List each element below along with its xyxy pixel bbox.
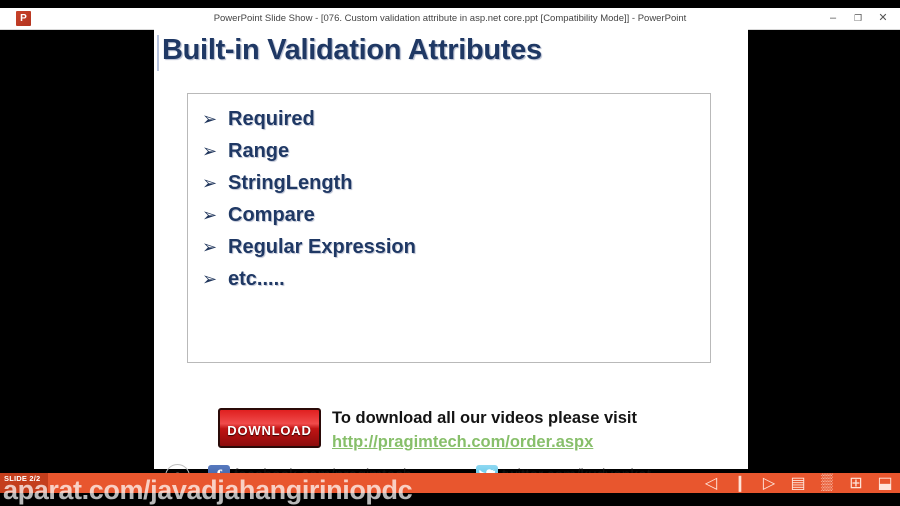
subtitles-button[interactable]: ▤	[791, 476, 805, 490]
next-slide-button[interactable]: ▷	[762, 476, 776, 490]
slide-indicator-label: SLIDE 2/2	[4, 474, 40, 483]
screen: P PowerPoint Slide Show - [076. Custom v…	[0, 0, 900, 506]
list-item-label: etc.....	[228, 268, 285, 291]
promo-headline: To download all our videos please visit	[332, 409, 637, 428]
arrow-bullet-icon: ➢	[202, 269, 228, 290]
download-button-label: DOWNLOAD	[220, 423, 319, 438]
list-item: ➢ Compare	[202, 204, 710, 236]
list-item: ➢ etc.....	[202, 268, 710, 300]
download-button[interactable]: DOWNLOAD	[218, 408, 321, 448]
list-item: ➢ Range	[202, 140, 710, 172]
bullet-content-box: ➢ Required ➢ Range ➢ StringLength ➢ Comp…	[187, 93, 711, 363]
zoom-slide-button[interactable]: ⊞	[849, 476, 863, 490]
pen-tools-button[interactable]: ❙	[733, 476, 747, 490]
bullet-list: ➢ Required ➢ Range ➢ StringLength ➢ Comp…	[188, 94, 710, 300]
page-title: Built-in Validation Attributes	[162, 34, 542, 67]
list-item-label: Range	[228, 140, 289, 163]
slideshow-controls: ◁ ❙ ▷ ▤ ▒ ⊞ ⬓	[704, 473, 892, 493]
close-button[interactable]: ✕	[872, 8, 894, 29]
list-item: ➢ StringLength	[202, 172, 710, 204]
title-accent-rule	[157, 35, 159, 71]
list-item-label: Compare	[228, 204, 315, 227]
window-titlebar: P PowerPoint Slide Show - [076. Custom v…	[0, 8, 900, 30]
arrow-bullet-icon: ➢	[202, 237, 228, 258]
list-item-label: Required	[228, 108, 315, 131]
all-slides-button[interactable]: ▒	[820, 476, 834, 490]
previous-slide-button[interactable]: ◁	[704, 476, 718, 490]
promo-block: DOWNLOAD To download all our videos plea…	[154, 377, 748, 429]
arrow-bullet-icon: ➢	[202, 173, 228, 194]
list-item-label: StringLength	[228, 172, 352, 195]
order-page-link[interactable]: http://pragimtech.com/order.aspx	[332, 433, 593, 452]
arrow-bullet-icon: ➢	[202, 109, 228, 130]
restore-button[interactable]: ❐	[847, 8, 869, 29]
arrow-bullet-icon: ➢	[202, 205, 228, 226]
minimize-button[interactable]: –	[822, 8, 844, 29]
more-options-button[interactable]: ⬓	[878, 476, 892, 490]
window-title: PowerPoint Slide Show - [076. Custom val…	[0, 8, 900, 29]
slide-canvas[interactable]: Built-in Validation Attributes ➢ Require…	[154, 29, 748, 469]
arrow-bullet-icon: ➢	[202, 141, 228, 162]
list-item: ➢ Required	[202, 108, 710, 140]
video-player-bar[interactable]: SLIDE 2/2 ◁ ❙ ▷ ▤ ▒ ⊞ ⬓	[0, 473, 900, 493]
list-item: ➢ Regular Expression	[202, 236, 710, 268]
list-item-label: Regular Expression	[228, 236, 416, 259]
